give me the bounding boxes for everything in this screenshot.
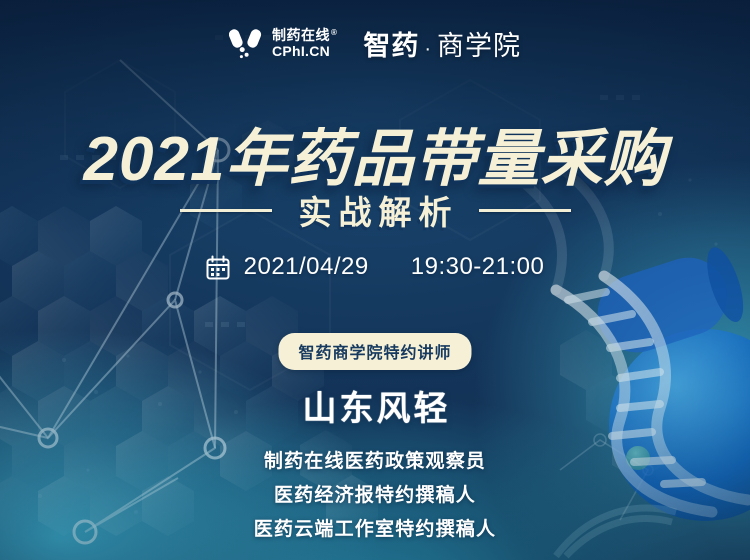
poster-main-title: 2021年药品带量采购: [0, 108, 750, 198]
poster-subtitle-row: 实战解析: [0, 186, 750, 234]
brand-chinese-name: 制药在线®: [272, 28, 337, 43]
registered-mark-icon: ®: [331, 29, 337, 37]
poster-subtitle: 实战解析: [292, 186, 459, 234]
subtitle-rule-left: [180, 209, 272, 212]
academy-name-strong: 智药: [363, 24, 419, 63]
credential-line: 制药在线医药政策观察员: [264, 446, 486, 473]
brand-english-name: CPhI.CN: [272, 44, 337, 59]
webinar-poster: 制药在线® CPhI.CN 智药 · 商学院 2021年药品带量采购 实战解析: [0, 0, 750, 560]
credential-line: 医药经济报特约撰稿人: [274, 480, 476, 507]
cphi-brand-text: 制药在线® CPhI.CN: [272, 28, 337, 58]
credential-line: 医药云端工作室特约撰稿人: [254, 514, 496, 541]
speaker-badge: 智药商学院特约讲师: [278, 333, 471, 370]
calendar-icon: [206, 255, 230, 280]
capsule-v-logo-icon: [229, 28, 263, 60]
event-time: 19:30-21:00: [411, 253, 545, 281]
event-date: 2021/04/29: [244, 253, 369, 281]
schedule-row: 2021/04/29 19:30-21:00: [0, 253, 750, 281]
cphi-brand-lockup: 制药在线® CPhI.CN: [229, 28, 337, 60]
academy-separator-dot: ·: [421, 38, 435, 61]
academy-name-light: 商学院: [437, 24, 521, 63]
brand-header: 制药在线® CPhI.CN 智药 · 商学院: [0, 24, 750, 63]
speaker-credentials: 制药在线医药政策观察员 医药经济报特约撰稿人 医药云端工作室特约撰稿人: [0, 446, 750, 541]
subtitle-rule-right: [479, 209, 571, 212]
academy-brand-lockup: 智药 · 商学院: [363, 24, 521, 63]
speaker-name: 山东风轻: [0, 381, 750, 430]
